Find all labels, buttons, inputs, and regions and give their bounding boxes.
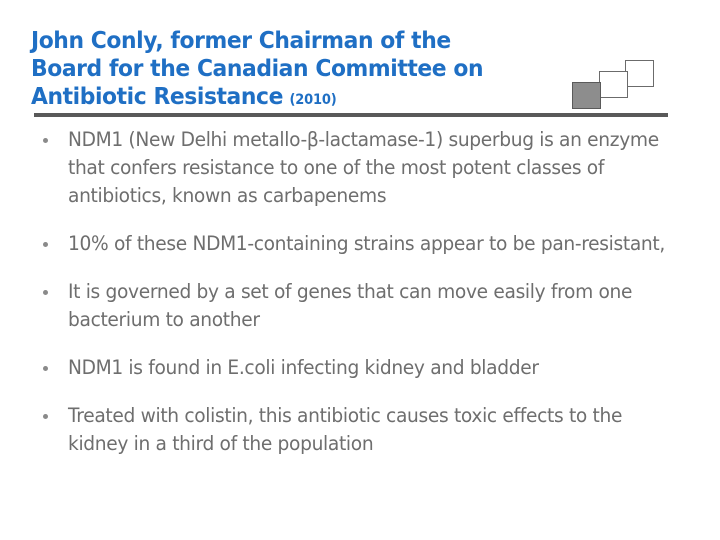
list-item-text: It is governed by a set of genes that ca…	[68, 278, 666, 334]
deco-square-gray	[572, 82, 601, 109]
bullet-dot-icon	[43, 138, 48, 143]
list-item: NDM1 is found in E.coli infecting kidney…	[34, 354, 694, 382]
bullet-dot-icon	[43, 242, 48, 247]
title-line-3: Antibiotic Resistance(2010)	[31, 82, 552, 114]
three-squares-decoration-icon	[568, 58, 660, 110]
title-line-1: John Conly, former Chairman of the	[31, 26, 552, 54]
title-year: (2010)	[289, 86, 336, 114]
bullet-dot-icon	[43, 414, 48, 419]
bullet-dot-icon	[43, 366, 48, 371]
title-divider-rule	[34, 113, 668, 117]
list-item-text: Treated with colistin, this antibiotic c…	[68, 402, 666, 458]
list-item: NDM1 (New Delhi metallo-β-lactamase-1) s…	[34, 126, 694, 210]
slide: John Conly, former Chairman of the Board…	[0, 0, 720, 540]
deco-square-top	[625, 60, 654, 87]
list-item-text: NDM1 (New Delhi metallo-β-lactamase-1) s…	[68, 126, 666, 210]
title-line-2: Board for the Canadian Committee on	[31, 54, 552, 82]
title-line-3-text: Antibiotic Resistance	[31, 82, 283, 110]
slide-title: John Conly, former Chairman of the Board…	[31, 26, 591, 114]
list-item: 10% of these NDM1-containing strains app…	[34, 230, 694, 258]
list-item-text: NDM1 is found in E.coli infecting kidney…	[68, 354, 666, 382]
list-item: Treated with colistin, this antibiotic c…	[34, 402, 694, 458]
deco-square-middle	[599, 71, 628, 98]
list-item-text: 10% of these NDM1-containing strains app…	[68, 230, 666, 258]
bullet-list: NDM1 (New Delhi metallo-β-lactamase-1) s…	[34, 126, 694, 458]
bullet-dot-icon	[43, 290, 48, 295]
list-item: It is governed by a set of genes that ca…	[34, 278, 694, 334]
